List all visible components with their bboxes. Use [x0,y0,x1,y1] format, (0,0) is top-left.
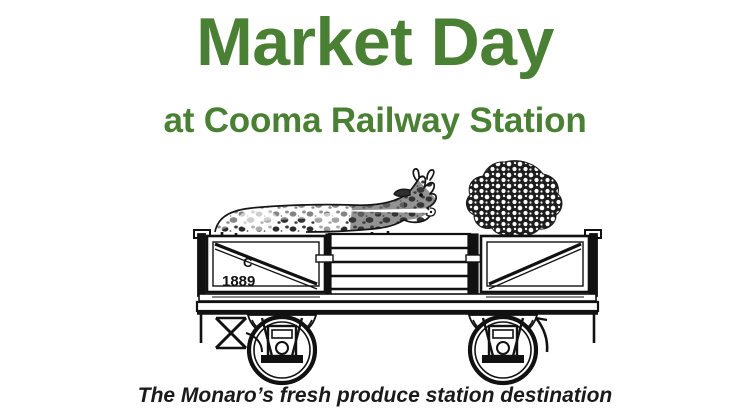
wagon-left-panel: C 1889 [207,236,325,292]
market-day-poster: Market Day at Cooma Railway Station [0,0,750,420]
poster-tagline: The Monaro’s fresh produce station desti… [0,385,750,406]
wagon-panel-letter: C [243,255,253,270]
wagon-left-wheelset [216,315,316,383]
wagon-panel-year: 1889 [222,273,255,290]
wagon-illustration: C 1889 [0,150,750,390]
wagon-right-wheelset [469,315,547,383]
poster-subtitle: at Cooma Railway Station [0,103,750,138]
cow-illustration [205,169,445,240]
wagon-centre-door [316,234,485,296]
page-title: Market Day [0,8,750,76]
wagon-right-panel [481,236,589,292]
tree-illustration [460,155,575,240]
goods-wagon: C 1889 [194,230,601,383]
